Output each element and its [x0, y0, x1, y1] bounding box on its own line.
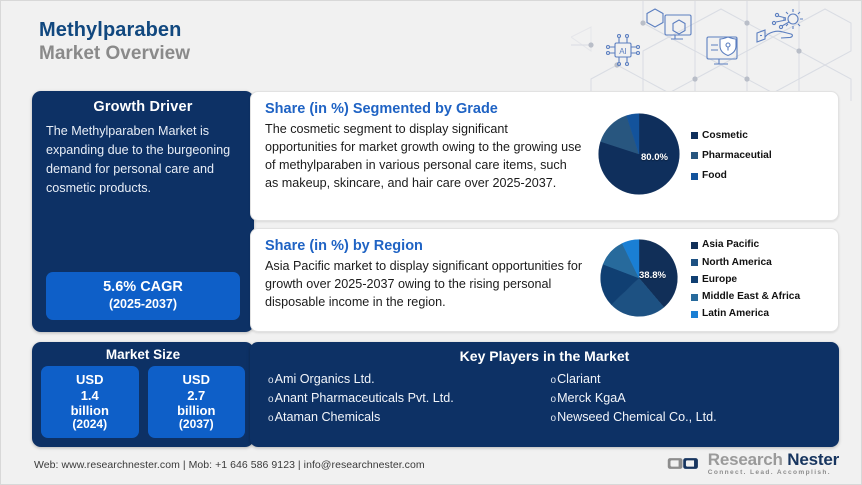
research-nester-logo: Research Nester Connect. Lead. Accomplis…	[667, 451, 839, 477]
market-size-year: (2024)	[43, 418, 137, 432]
legend-item: Pharmaceutial	[691, 151, 832, 161]
cagr-value: 5.6% CAGR	[50, 279, 236, 297]
svg-text:AI: AI	[619, 47, 627, 56]
cagr-period: (2025-2037)	[50, 297, 236, 312]
key-player-name: Newseed Chemical Co., Ltd.	[557, 408, 717, 427]
decorative-hex-band: AI	[571, 1, 861, 101]
shield-security-icon	[707, 37, 737, 64]
legend-label: North America	[702, 258, 772, 268]
grade-pie-label: 80.0%	[641, 152, 668, 163]
legend-swatch	[691, 173, 698, 180]
legend-item: Cosmetic	[691, 131, 832, 141]
legend-swatch	[691, 259, 698, 266]
legend-swatch	[691, 132, 698, 139]
robotic-hand-gear-icon	[757, 9, 803, 42]
key-player-item: oNewseed Chemical Co., Ltd.	[551, 408, 828, 427]
3d-model-monitor-icon	[647, 9, 691, 39]
key-player-name: Clariant	[557, 370, 600, 389]
region-pie-chart: 38.8%	[599, 238, 679, 323]
grade-pie-chart: 80.0%	[597, 112, 681, 201]
page-subtitle: Market Overview	[39, 43, 190, 66]
legend-swatch	[691, 276, 698, 283]
share-by-grade-heading: Share (in %) Segmented by Grade	[265, 101, 583, 117]
legend-item: Food	[691, 171, 832, 181]
key-players-card: Key Players in the Market oAmi Organics …	[250, 342, 839, 447]
share-by-region-text: Asia Pacific market to display significa…	[265, 258, 583, 312]
key-player-item: oAtaman Chemicals	[268, 408, 545, 427]
logo-mark-icon	[667, 451, 701, 476]
legend-label: Cosmetic	[702, 131, 748, 141]
share-by-region-card: Share (in %) by Region Asia Pacific mark…	[250, 228, 839, 332]
market-size-box-2037: USD 2.7 billion (2037)	[148, 366, 246, 438]
region-pie-legend: Asia PacificNorth AmericaEuropeMiddle Ea…	[687, 240, 832, 319]
market-size-unit: billion	[150, 403, 244, 418]
logo-wordmark: Research Nester	[708, 451, 839, 468]
key-players-column-left: oAmi Organics Ltd.oAnant Pharmaceuticals…	[262, 370, 545, 427]
growth-driver-title: Growth Driver	[46, 99, 240, 115]
bullet-icon: o	[551, 392, 557, 407]
legend-swatch	[691, 152, 698, 159]
key-player-name: Anant Pharmaceuticals Pvt. Ltd.	[275, 389, 454, 408]
growth-driver-body: The Methylparaben Market is expanding du…	[46, 122, 240, 199]
key-players-title: Key Players in the Market	[262, 348, 827, 364]
key-players-column-right: oClariantoMerck KgaAoNewseed Chemical Co…	[545, 370, 828, 427]
bullet-icon: o	[268, 392, 274, 407]
region-pie-label: 38.8%	[639, 270, 666, 281]
legend-label: Asia Pacific	[702, 240, 759, 250]
legend-item: Middle East & Africa	[691, 292, 832, 302]
market-size-amount: 1.4	[43, 388, 137, 403]
key-player-item: oAmi Organics Ltd.	[268, 370, 545, 389]
legend-item: Asia Pacific	[691, 240, 832, 250]
legend-label: Latin America	[702, 309, 769, 319]
key-player-item: oClariant	[551, 370, 828, 389]
key-player-name: Merck KgaA	[557, 389, 626, 408]
bullet-icon: o	[268, 373, 274, 388]
legend-swatch	[691, 311, 698, 318]
logo-tagline: Connect. Lead. Accomplish.	[708, 470, 839, 477]
market-size-card: Market Size USD 1.4 billion (2024) USD 2…	[32, 342, 254, 447]
market-size-currency: USD	[150, 372, 244, 387]
bullet-icon: o	[551, 411, 557, 426]
market-size-year: (2037)	[150, 418, 244, 432]
grade-pie-legend: CosmeticPharmaceutialFood	[687, 131, 832, 182]
share-by-grade-card: Share (in %) Segmented by Grade The cosm…	[250, 91, 839, 221]
legend-swatch	[691, 242, 698, 249]
ai-chip-icon: AI	[607, 35, 640, 66]
legend-item: North America	[691, 258, 832, 268]
legend-item: Latin America	[691, 309, 832, 319]
growth-driver-card: Growth Driver The Methylparaben Market i…	[32, 91, 254, 332]
market-size-currency: USD	[43, 372, 137, 387]
cagr-badge: 5.6% CAGR (2025-2037)	[46, 272, 240, 320]
footer-contact: Web: www.researchnester.com | Mob: +1 64…	[34, 459, 425, 471]
bullet-icon: o	[551, 373, 557, 388]
key-player-item: oAnant Pharmaceuticals Pvt. Ltd.	[268, 389, 545, 408]
key-player-item: oMerck KgaA	[551, 389, 828, 408]
page-header: Methylparaben Market Overview	[39, 19, 190, 65]
market-size-unit: billion	[43, 403, 137, 418]
legend-label: Food	[702, 171, 727, 181]
share-by-region-heading: Share (in %) by Region	[265, 238, 583, 254]
share-by-grade-text: The cosmetic segment to display signific…	[265, 121, 583, 193]
infographic-page: AI	[0, 0, 862, 485]
market-size-box-2024: USD 1.4 billion (2024)	[41, 366, 139, 438]
page-title: Methylparaben	[39, 19, 190, 43]
legend-label: Pharmaceutial	[702, 151, 772, 161]
key-player-name: Ami Organics Ltd.	[275, 370, 375, 389]
market-size-title: Market Size	[41, 347, 245, 362]
legend-swatch	[691, 294, 698, 301]
legend-item: Europe	[691, 275, 832, 285]
legend-label: Europe	[702, 275, 737, 285]
market-size-amount: 2.7	[150, 388, 244, 403]
bullet-icon: o	[268, 411, 274, 426]
key-player-name: Ataman Chemicals	[275, 408, 381, 427]
legend-label: Middle East & Africa	[702, 292, 800, 302]
